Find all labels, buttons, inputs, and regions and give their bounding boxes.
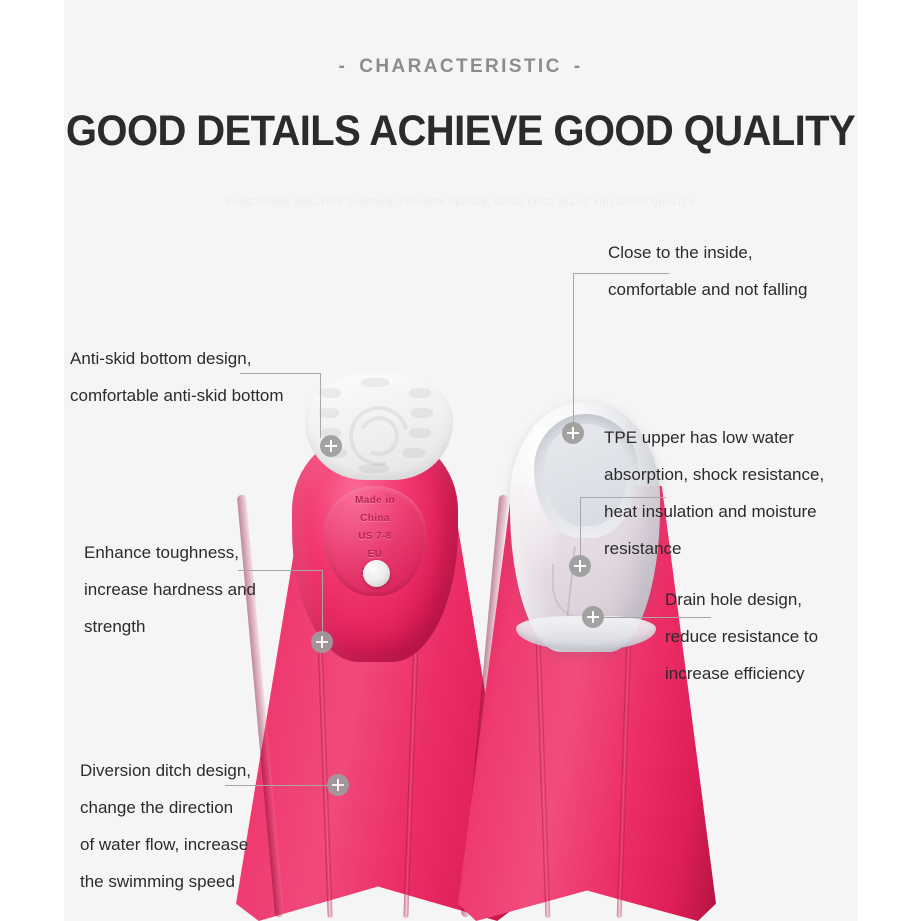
- marker-drain-hole[interactable]: [582, 606, 604, 628]
- marker-diversion-ditch[interactable]: [327, 774, 349, 796]
- annotation-diversion-line-2: change the direction: [80, 789, 251, 826]
- annotation-drain-hole-line-2: reduce resistance to: [665, 618, 818, 655]
- eyebrow-dash-right: -: [562, 56, 595, 78]
- annotation-toughness-line-3: strength: [84, 608, 256, 645]
- sole-tread-1: [319, 388, 341, 398]
- marker-anti-skid[interactable]: [320, 435, 342, 457]
- annotation-tpe-upper-line-2: absorption, shock resistance,: [604, 456, 824, 493]
- annotation-close-inside: Close to the inside, comfortable and not…: [608, 234, 807, 308]
- eyebrow-heading: -CHARACTERISTIC-: [0, 56, 921, 78]
- left-fin-rivet: [363, 560, 390, 587]
- annotation-anti-skid: Anti-skid bottom design, comfortable ant…: [70, 340, 284, 414]
- annotation-anti-skid-line-2: comfortable anti-skid bottom: [70, 377, 284, 414]
- annotation-drain-hole-line-3: increase efficiency: [665, 655, 818, 692]
- page-title: GOOD DETAILS ACHIEVE GOOD QUALITY: [0, 108, 921, 156]
- sole-tread-8: [403, 448, 425, 458]
- marker-close-inside[interactable]: [562, 422, 584, 444]
- annotation-drain-hole: Drain hole design, reduce resistance to …: [665, 581, 818, 692]
- emboss-line-2: China: [324, 510, 426, 528]
- annotation-anti-skid-line-1: Anti-skid bottom design,: [70, 340, 284, 377]
- annotation-close-inside-line-1: Close to the inside,: [608, 234, 807, 271]
- annotation-diversion-line-1: Diversion ditch design,: [80, 752, 251, 789]
- sole-tread-5: [409, 388, 431, 398]
- annotation-tpe-upper-line-1: TPE upper has low water: [604, 419, 824, 456]
- annotation-close-inside-line-2: comfortable and not falling: [608, 271, 807, 308]
- sole-tread-9: [361, 378, 389, 387]
- annotation-toughness-line-2: increase hardness and: [84, 571, 256, 608]
- left-fin-antiskid-sole: [305, 372, 453, 480]
- emboss-line-1: Made in: [324, 492, 426, 510]
- emboss-line-3: US 7-8: [324, 528, 426, 546]
- sole-tread-2: [319, 408, 339, 418]
- leader-line-close-inside-vertical: [573, 273, 574, 425]
- annotation-tpe-upper: TPE upper has low water absorption, shoc…: [604, 419, 824, 567]
- annotation-drain-hole-line-1: Drain hole design,: [665, 581, 818, 618]
- annotation-toughness-line-1: Enhance toughness,: [84, 534, 256, 571]
- eyebrow-dash-left: -: [327, 56, 360, 78]
- sole-tread-7: [409, 428, 431, 438]
- page-subtitle: FUNCTIONAL ANALYSIS DIAGRAM, FASHION DES…: [0, 197, 921, 207]
- leader-line-toughness-vertical: [322, 570, 323, 635]
- leader-line-anti-skid-vertical: [320, 373, 321, 438]
- annotation-tpe-upper-line-3: heat insulation and moisture: [604, 493, 824, 530]
- eyebrow-text: CHARACTERISTIC: [359, 56, 562, 77]
- sole-tread-6: [411, 408, 433, 418]
- infographic-page: -CHARACTERISTIC- GOOD DETAILS ACHIEVE GO…: [0, 0, 921, 921]
- annotation-toughness: Enhance toughness, increase hardness and…: [84, 534, 256, 645]
- marker-tpe-upper[interactable]: [569, 555, 591, 577]
- annotation-diversion-line-3: of water flow, increase: [80, 826, 251, 863]
- marker-toughness[interactable]: [311, 631, 333, 653]
- annotation-diversion-line-4: the swimming speed: [80, 863, 251, 900]
- annotation-tpe-upper-line-4: resistance: [604, 530, 824, 567]
- annotation-diversion-ditch: Diversion ditch design, change the direc…: [80, 752, 251, 900]
- sole-tread-10: [359, 464, 389, 473]
